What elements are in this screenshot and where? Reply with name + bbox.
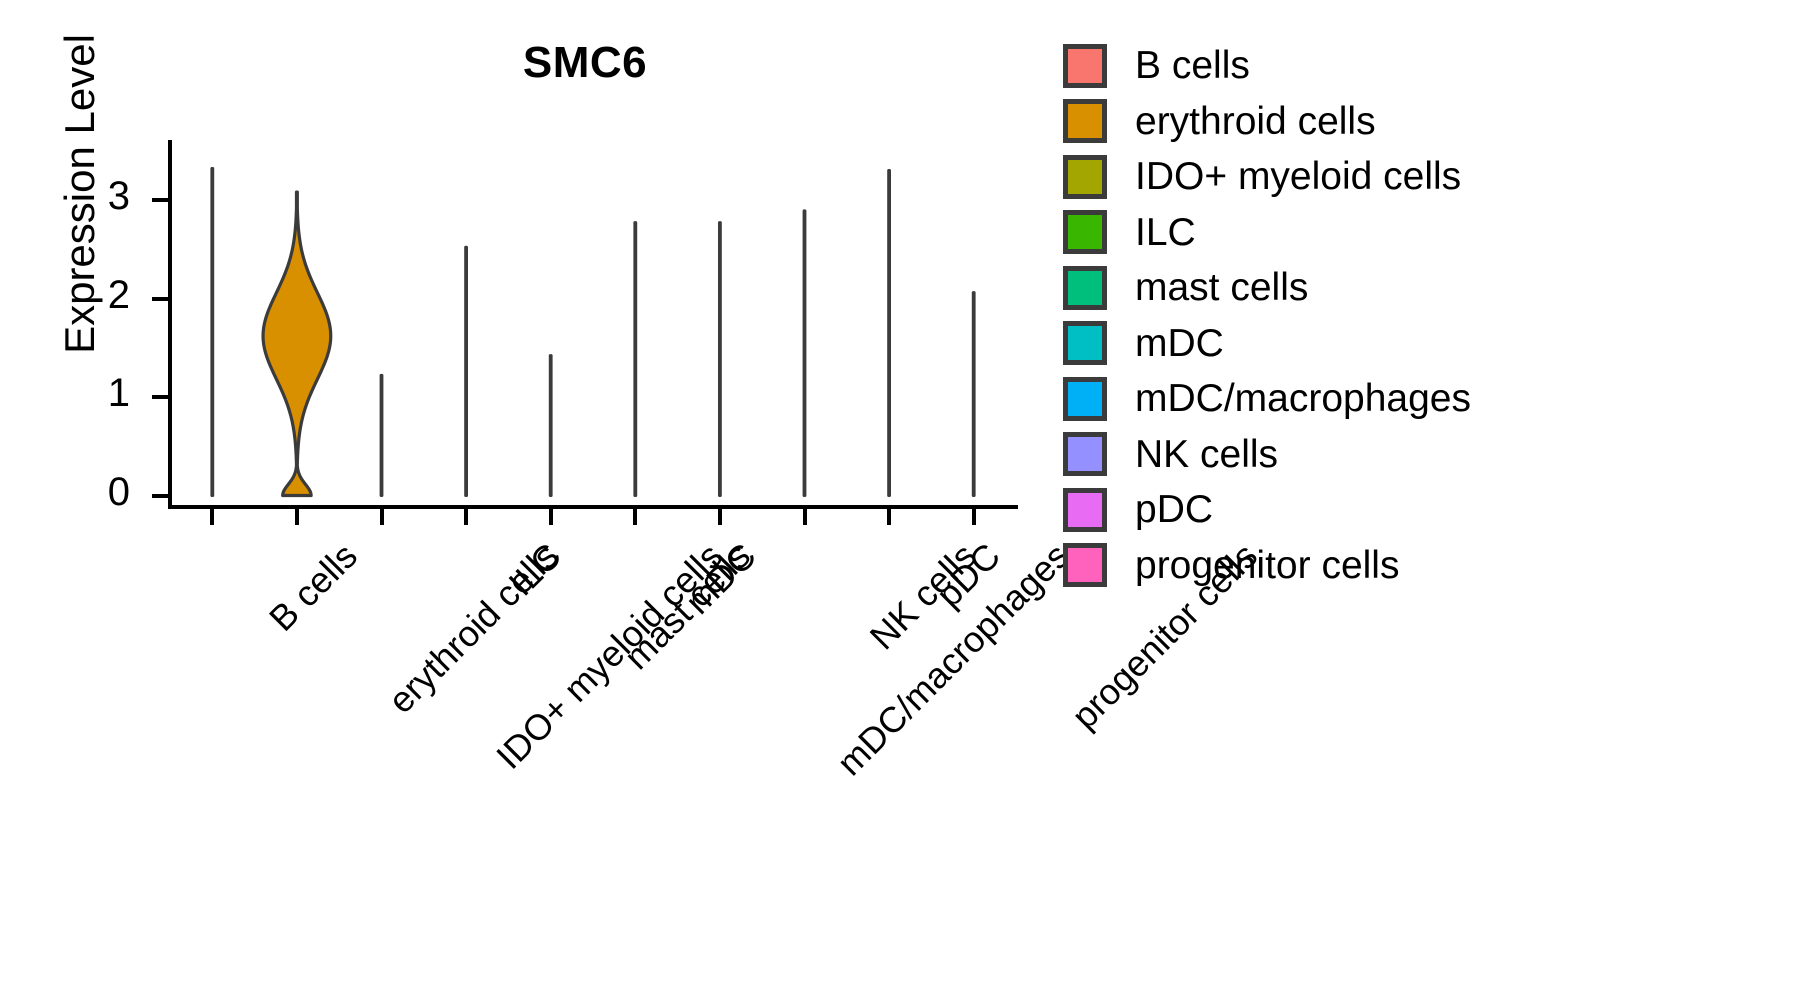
legend-color-swatch <box>1063 377 1107 421</box>
legend-item-b-cells[interactable]: B cells <box>1063 38 1471 94</box>
legend-item-mast-cells[interactable]: mast cells <box>1063 260 1471 316</box>
y-tick-mark <box>152 198 169 202</box>
legend-color-swatch <box>1063 155 1107 199</box>
legend-item-label: ILC <box>1135 213 1196 252</box>
legend-color-swatch <box>1063 321 1107 365</box>
x-tick-mark <box>210 509 214 525</box>
legend-item-mdc-macrophages[interactable]: mDC/macrophages <box>1063 371 1471 427</box>
x-tick-mark <box>380 509 384 525</box>
y-tick-label: 3 <box>70 176 130 216</box>
violin-progenitor-cells <box>973 293 974 496</box>
legend-color-swatch <box>1063 488 1107 532</box>
x-tick-mark <box>633 509 637 525</box>
legend-item-label: progenitor cells <box>1135 546 1399 585</box>
legend-item-nk-cells[interactable]: NK cells <box>1063 427 1471 483</box>
legend-color-swatch <box>1063 543 1107 587</box>
x-tick-mark <box>549 509 553 525</box>
violin-ido-myeloid-cells <box>381 375 382 495</box>
x-tick-mark <box>972 509 976 525</box>
legend-item-ilc[interactable]: ILC <box>1063 205 1471 261</box>
violin-pdc <box>889 170 890 495</box>
legend: B cellserythroid cellsIDO+ myeloid cells… <box>1063 38 1471 593</box>
legend-item-progenitor-cells[interactable]: progenitor cells <box>1063 538 1471 594</box>
legend-item-label: IDO+ myeloid cells <box>1135 157 1461 196</box>
x-tick-mark <box>464 509 468 525</box>
violin-plot-figure: SMC6 Expression Level 0123 B cellserythr… <box>0 0 1795 1002</box>
legend-color-swatch <box>1063 44 1107 88</box>
legend-item-mdc[interactable]: mDC <box>1063 316 1471 372</box>
legend-color-swatch <box>1063 99 1107 143</box>
y-tick-label: 1 <box>70 373 130 413</box>
y-tick-label: 0 <box>70 472 130 512</box>
violin-mdc <box>635 223 636 496</box>
violin-mast-cells <box>550 356 551 496</box>
legend-item-label: NK cells <box>1135 435 1278 474</box>
legend-item-label: erythroid cells <box>1135 102 1376 141</box>
y-tick-mark <box>152 395 169 399</box>
x-tick-mark <box>718 509 722 525</box>
legend-item-pdc[interactable]: pDC <box>1063 482 1471 538</box>
legend-color-swatch <box>1063 266 1107 310</box>
legend-item-label: mDC <box>1135 324 1224 363</box>
legend-item-label: mDC/macrophages <box>1135 379 1471 418</box>
legend-item-label: mast cells <box>1135 268 1308 307</box>
legend-item-erythroid-cells[interactable]: erythroid cells <box>1063 94 1471 150</box>
violin-ilc <box>466 247 467 495</box>
y-axis-line <box>168 140 172 508</box>
x-axis-label: B cells <box>261 535 366 640</box>
legend-color-swatch <box>1063 210 1107 254</box>
legend-item-label: pDC <box>1135 490 1213 529</box>
y-tick-mark <box>152 494 169 498</box>
violin-mdc-macrophages <box>719 223 720 496</box>
y-tick-mark <box>152 297 169 301</box>
violin-b-cells <box>212 168 213 495</box>
legend-item-label: B cells <box>1135 46 1250 85</box>
y-tick-label: 2 <box>70 275 130 315</box>
x-tick-mark <box>803 509 807 525</box>
legend-item-ido-myeloid-cells[interactable]: IDO+ myeloid cells <box>1063 149 1471 205</box>
x-tick-mark <box>887 509 891 525</box>
violin-erythroid-cells <box>263 192 331 495</box>
x-tick-mark <box>295 509 299 525</box>
page-title: SMC6 <box>170 38 1000 88</box>
violin-shapes <box>0 0 1795 1002</box>
legend-color-swatch <box>1063 432 1107 476</box>
violin-nk-cells <box>804 211 805 496</box>
